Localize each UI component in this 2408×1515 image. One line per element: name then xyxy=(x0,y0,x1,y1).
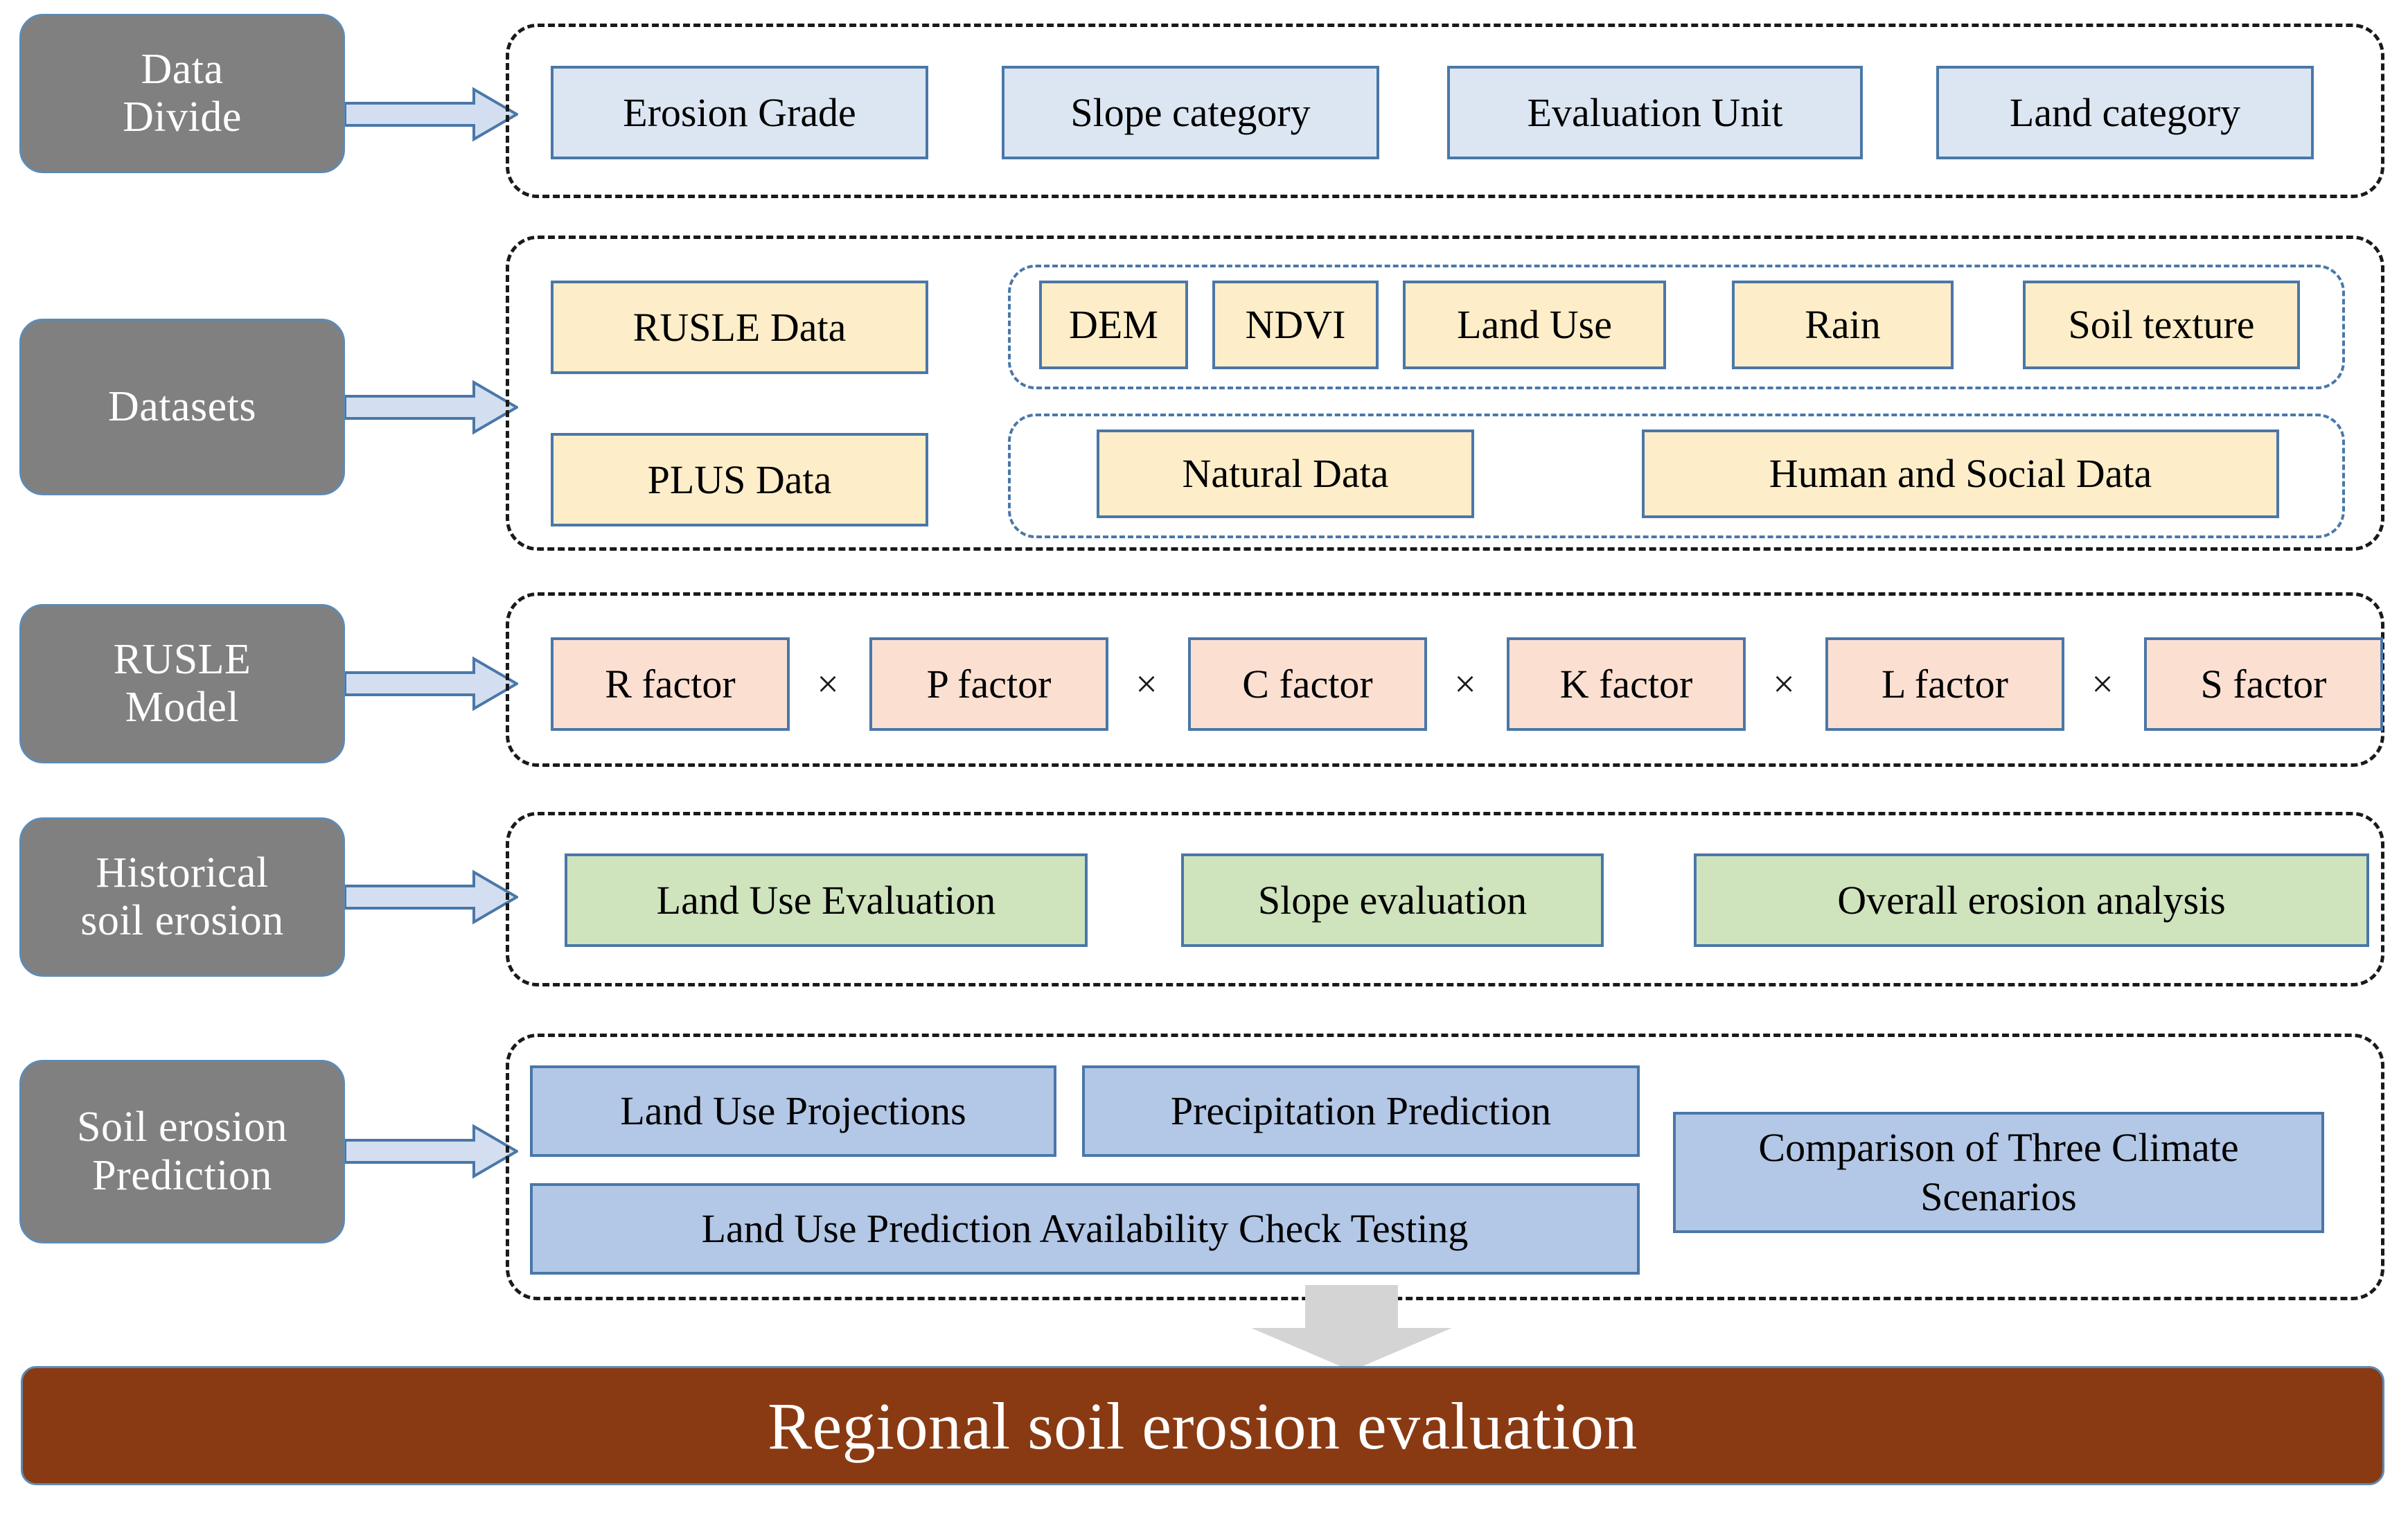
item-land-use-evaluation[interactable]: Land Use Evaluation xyxy=(565,853,1088,947)
stage-label-line2: Divide xyxy=(123,94,242,141)
item-p-factor[interactable]: P factor xyxy=(869,637,1108,731)
item-human-and-social-data[interactable]: Human and Social Data xyxy=(1642,429,2279,518)
item-land-use-projections[interactable]: Land Use Projections xyxy=(530,1065,1056,1157)
item-land-category[interactable]: Land category xyxy=(1936,66,2314,159)
comparison-line1: Comparison of Three Climate xyxy=(1758,1124,2238,1173)
item-comparison-of-three-climate-scenarios[interactable]: Comparison of Three Climate Scenarios xyxy=(1673,1112,2324,1233)
item-dem[interactable]: DEM xyxy=(1039,281,1188,369)
stage-label-rusle-model[interactable]: RUSLE Model xyxy=(19,604,345,763)
stage-label-line1: Historical xyxy=(80,849,284,897)
item-s-factor[interactable]: S factor xyxy=(2144,637,2383,731)
item-erosion-grade[interactable]: Erosion Grade xyxy=(551,66,928,159)
stage-label-line2: soil erosion xyxy=(80,897,284,945)
stage-label-line1: Soil erosion xyxy=(77,1104,287,1151)
item-precipitation-prediction[interactable]: Precipitation Prediction xyxy=(1082,1065,1640,1157)
stage-label-line1: Data xyxy=(123,46,242,94)
multiply-symbol-4: × xyxy=(1746,637,1822,731)
comparison-line2: Scenarios xyxy=(1758,1173,2238,1222)
item-slope-evaluation[interactable]: Slope evaluation xyxy=(1181,853,1604,947)
connector-arrow-historical-soil-erosion xyxy=(345,869,518,925)
connector-arrow-rusle-model xyxy=(345,656,518,711)
stage-label-line1: RUSLE xyxy=(114,636,251,684)
multiply-symbol-3: × xyxy=(1427,637,1503,731)
down-arrow-icon xyxy=(1244,1285,1459,1372)
multiply-symbol-2: × xyxy=(1108,637,1185,731)
item-slope-category[interactable]: Slope category xyxy=(1002,66,1379,159)
stage-label-historical-soil-erosion[interactable]: Historical soil erosion xyxy=(19,817,345,977)
connector-arrow-soil-erosion-prediction xyxy=(345,1124,518,1179)
item-k-factor[interactable]: K factor xyxy=(1507,637,1746,731)
item-rain[interactable]: Rain xyxy=(1732,281,1954,369)
result-banner[interactable]: Regional soil erosion evaluation xyxy=(21,1366,2384,1485)
connector-arrow-data-divide xyxy=(345,87,518,142)
stage-label-datasets[interactable]: Datasets xyxy=(19,319,345,495)
item-c-factor[interactable]: C factor xyxy=(1188,637,1427,731)
item-rusle-data[interactable]: RUSLE Data xyxy=(551,281,928,374)
stage-label-data-divide[interactable]: Data Divide xyxy=(19,14,345,173)
item-r-factor[interactable]: R factor xyxy=(551,637,790,731)
item-l-factor[interactable]: L factor xyxy=(1825,637,2064,731)
stage-label-line1: Datasets xyxy=(108,383,256,431)
item-ndvi[interactable]: NDVI xyxy=(1212,281,1379,369)
item-natural-data[interactable]: Natural Data xyxy=(1097,429,1474,518)
multiply-symbol-5: × xyxy=(2064,637,2141,731)
connector-arrow-datasets xyxy=(345,380,518,435)
item-land-use[interactable]: Land Use xyxy=(1403,281,1666,369)
item-land-use-prediction-availability-check-testing[interactable]: Land Use Prediction Availability Check T… xyxy=(530,1183,1640,1275)
stage-label-line2: Model xyxy=(114,684,251,732)
item-plus-data[interactable]: PLUS Data xyxy=(551,433,928,526)
stage-label-soil-erosion-prediction[interactable]: Soil erosion Prediction xyxy=(19,1060,345,1243)
item-evaluation-unit[interactable]: Evaluation Unit xyxy=(1447,66,1863,159)
stage-label-line2: Prediction xyxy=(77,1152,287,1200)
flowchart-canvas: Data Divide Erosion Grade Slope category… xyxy=(0,0,2408,1515)
item-overall-erosion-analysis[interactable]: Overall erosion analysis xyxy=(1694,853,2369,947)
item-soil-texture[interactable]: Soil texture xyxy=(2023,281,2300,369)
multiply-symbol-1: × xyxy=(790,637,866,731)
